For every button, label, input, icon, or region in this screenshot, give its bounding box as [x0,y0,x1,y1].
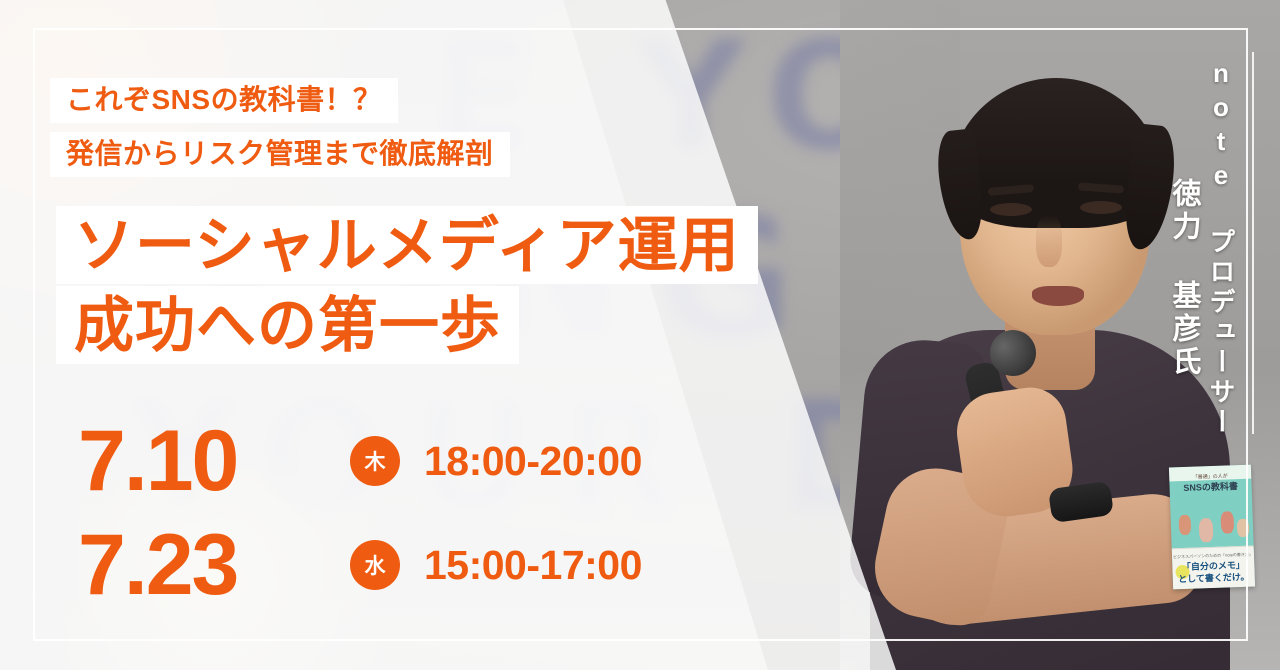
schedule-time-1: 18:00-20:00 [424,438,642,485]
schedule-date-2: 7.23 [78,522,350,608]
book-art-shape-4 [1237,519,1250,537]
speaker-eye-right [1080,201,1122,214]
schedule-row-2: 7.23 水 15:00-17:00 [78,522,642,608]
schedule-time-2: 15:00-17:00 [424,542,642,589]
book-band-headline-2: として書くだけ。 [1173,572,1255,586]
title-line-2: 成功への第一歩 [56,286,519,364]
speaker-eye-left [990,203,1032,216]
speaker-name: 徳力 基彦氏 [1169,178,1198,379]
event-poster: E YOU G ING YOUR DR 「普通」の人が SNSの教科書 [0,0,1280,670]
subtitle-line-1: これぞSNSの教科書！？ [50,78,398,123]
book-title: SNSの教科書 [1169,481,1251,494]
speaker-nose [1036,215,1062,267]
subtitle-line-2: 発信からリスク管理まで徹底解剖 [50,132,510,177]
book-obi-band: ビジネスパーソンのための「noteの書き方」 「自分のメモ」 として書くだけ。 [1172,546,1255,590]
speaker-credit: note プロデューサー 徳力 基彦氏 [1169,58,1234,428]
book-top-label: 「普通」の人が [1169,472,1251,482]
schedule-row-1: 7.10 木 18:00-20:00 [78,418,642,504]
speaker-mouth [1032,286,1084,306]
title-line-1: ソーシャルメディア運用 [56,206,758,284]
book-art-shape-2 [1199,518,1214,542]
schedule-day-badge-2: 水 [350,540,400,590]
schedule-day-badge-1: 木 [350,436,400,486]
book-art-shape-3 [1220,511,1234,533]
speaker-credit-rule [1252,52,1254,434]
speaker-role: note プロデューサー [1208,58,1234,438]
book-cover: 「普通」の人が SNSの教科書 ビジネスパーソンのための「noteの書き方」 「… [1169,465,1255,590]
schedule-date-1: 7.10 [78,418,350,504]
book-art-shape-1 [1179,515,1192,535]
